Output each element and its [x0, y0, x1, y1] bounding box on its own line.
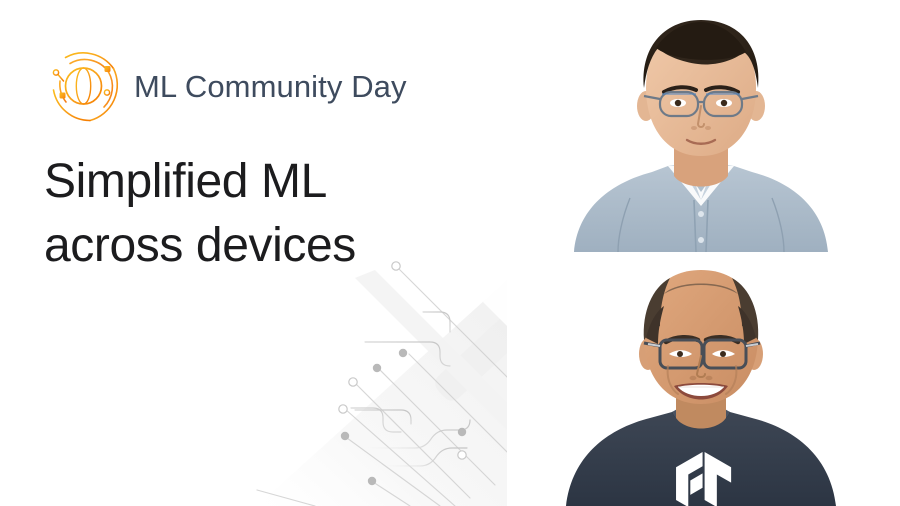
orbit-node-hollow-right [104, 90, 109, 95]
orbit-node-hollow-left [53, 70, 58, 75]
brand-name: ML Community Day [134, 71, 407, 102]
circuit-node-hollow [458, 451, 466, 459]
circuit-node-hollow [349, 378, 357, 386]
circuit-node-filled [341, 432, 349, 440]
presentation-slide: ML Community Day Simplified ML across de… [0, 0, 900, 506]
speaker-photo-bottom [556, 254, 846, 506]
circuit-node-filled [368, 477, 376, 485]
circuit-node-filled [399, 349, 407, 357]
circuit-node-filled [458, 428, 466, 436]
page-title-line-2: across devices [44, 214, 514, 278]
globe-orbit-icon [44, 46, 124, 126]
speaker-photo-top [556, 0, 846, 252]
orbit-node-square-top [105, 66, 111, 72]
page-title-line-1: Simplified ML [44, 150, 514, 214]
circuit-node-hollow [339, 405, 347, 413]
circuit-trace-pattern [255, 252, 507, 506]
orbit-node-square-bottom [60, 93, 66, 99]
page-title: Simplified ML across devices [44, 150, 514, 278]
circuit-node-filled [373, 364, 381, 372]
brand-lockup: ML Community Day [44, 46, 407, 126]
